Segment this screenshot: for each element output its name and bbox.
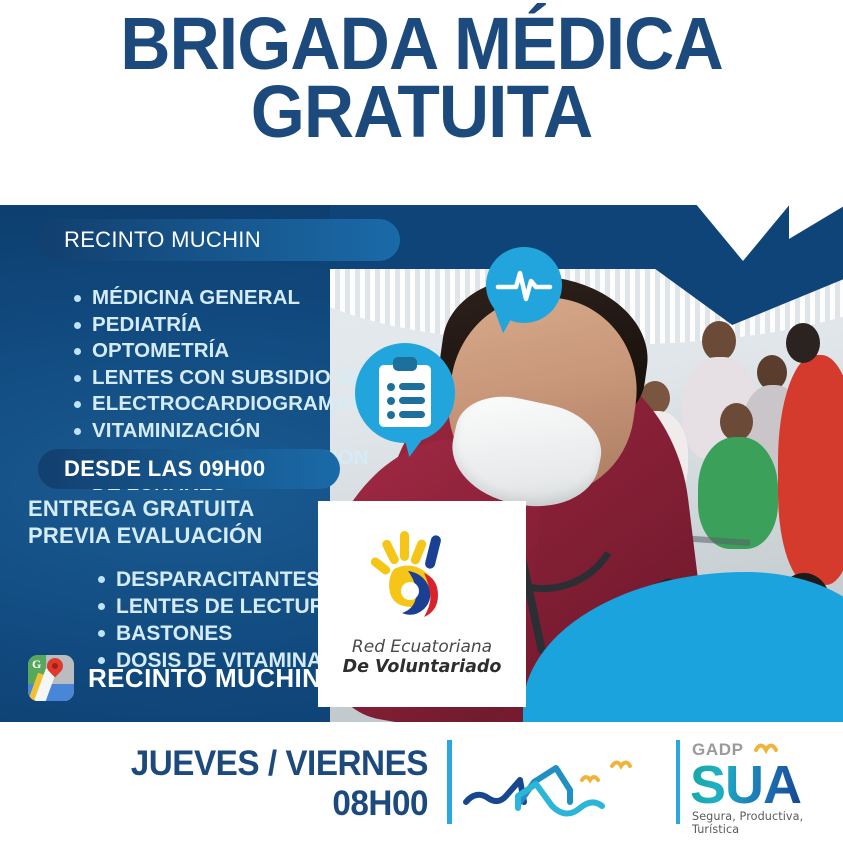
info-panel: RECINTO MUCHIN MÉDICINA GENERAL PEDIATRÍ…	[0, 205, 843, 722]
delivery-heading-line-2: PREVIA EVALUACIÓN	[28, 522, 262, 549]
map-location-label: RECINTO MUCHIN	[88, 663, 321, 694]
crowd-person	[778, 355, 843, 585]
event-date: JUEVES / VIERNES 08H00	[78, 744, 428, 824]
hand-sun-logo-icon	[318, 523, 526, 633]
list-item: PEDIATRÍA	[68, 312, 468, 339]
crowd-person	[720, 403, 753, 441]
partner-name-line-2: De Voluntariado	[318, 657, 526, 677]
footer-divider-right	[676, 740, 680, 824]
time-pill-label: DESDE LAS 09H00	[64, 456, 265, 482]
partner-name-line-1: Red Ecuatoriana	[318, 637, 526, 657]
crowd-person	[698, 437, 778, 549]
gadp-sua-logo: GADP SUA Segura, Productiva, Turística	[690, 740, 840, 826]
poster: BRIGADA MÉDICA GRATUITA	[0, 0, 843, 843]
crowd-person	[702, 321, 736, 361]
delivery-heading-line-1: ENTREGA GRATUITA	[28, 495, 262, 522]
clipboard-checklist-icon	[355, 343, 455, 443]
page-title: BRIGADA MÉDICA GRATUITA	[25, 10, 817, 146]
partner-logo-card: Red Ecuatoriana De Voluntariado	[318, 501, 526, 707]
partner-logo-text: Red Ecuatoriana De Voluntariado	[318, 637, 526, 677]
map-g-letter: G	[32, 657, 41, 672]
sua-tagline: Segura, Productiva, Turística	[692, 810, 840, 836]
footer-divider-left	[447, 740, 452, 824]
location-pill: RECINTO MUCHIN	[38, 219, 400, 261]
crowd-person	[786, 323, 820, 363]
delivery-heading: ENTREGA GRATUITA PREVIA EVALUACIÓN	[28, 495, 262, 549]
title-line-2: GRATUITA	[25, 78, 817, 146]
event-date-line-2: 08H00	[78, 784, 428, 824]
sua-wordmark: SUA	[690, 754, 801, 816]
footer: JUEVES / VIERNES 08H00 GADP SUA Segura, …	[0, 722, 843, 843]
sua-birds-icon	[752, 736, 792, 758]
event-date-line-1: JUEVES / VIERNES	[78, 744, 428, 784]
google-maps-pin-icon: G	[28, 655, 74, 701]
header: BRIGADA MÉDICA GRATUITA	[0, 0, 843, 205]
map-location-row: G RECINTO MUCHIN	[28, 655, 321, 701]
time-pill: DESDE LAS 09H00	[38, 449, 340, 489]
heartbeat-pulse-icon	[486, 247, 562, 323]
location-pill-label: RECINTO MUCHIN	[64, 227, 261, 253]
mountain-wave-birds-icon	[462, 752, 652, 818]
list-item: MÉDICINA GENERAL	[68, 285, 468, 312]
